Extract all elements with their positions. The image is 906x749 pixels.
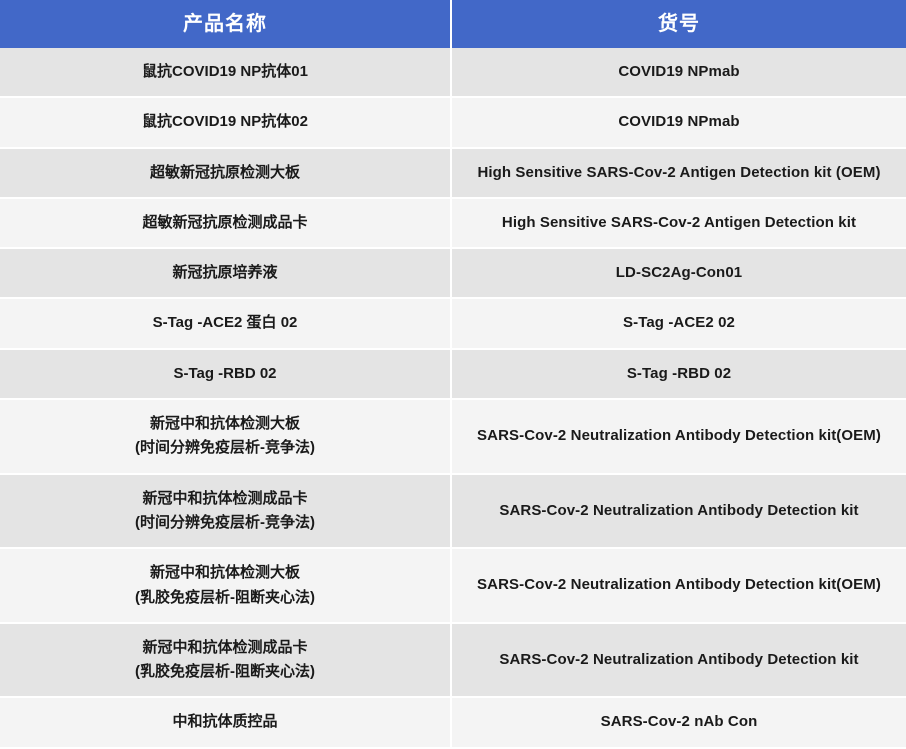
product-name-line-2: (时间分辨免疫层析-竞争法) [10, 511, 440, 535]
table-row[interactable]: S-Tag -ACE2 蛋白 02S-Tag -ACE2 02 [0, 299, 906, 349]
product-name-line-2: (乳胶免疫层析-阻断夹心法) [10, 660, 440, 684]
cell-product-name: S-Tag -RBD 02 [0, 350, 452, 400]
product-name-line-2: (时间分辨免疫层析-竞争法) [10, 436, 440, 460]
product-name-line-1: 鼠抗COVID19 NP抗体02 [10, 110, 440, 134]
product-name-line-1: 新冠中和抗体检测成品卡 [10, 487, 440, 511]
cell-product-name: 新冠抗原培养液 [0, 249, 452, 299]
table-header: 产品名称 货号 [0, 0, 906, 48]
table-row[interactable]: 鼠抗COVID19 NP抗体02COVID19 NPmab [0, 98, 906, 148]
cell-product-name: 新冠中和抗体检测成品卡(乳胶免疫层析-阻断夹心法) [0, 624, 452, 699]
cell-product-code: LD-SC2Ag-Con01 [452, 249, 906, 299]
product-catalog-table: 产品名称 货号 鼠抗COVID19 NP抗体01COVID19 NPmab鼠抗C… [0, 0, 906, 749]
product-name-line-1: 超敏新冠抗原检测大板 [10, 161, 440, 185]
table-row[interactable]: 新冠中和抗体检测成品卡(时间分辨免疫层析-竞争法)SARS-Cov-2 Neut… [0, 475, 906, 550]
table-row[interactable]: 新冠抗原培养液LD-SC2Ag-Con01 [0, 249, 906, 299]
cell-product-name: 超敏新冠抗原检测成品卡 [0, 199, 452, 249]
cell-product-code: SARS-Cov-2 Neutralization Antibody Detec… [452, 624, 906, 699]
product-name-line-1: 鼠抗COVID19 NP抗体01 [10, 60, 440, 84]
table-body: 鼠抗COVID19 NP抗体01COVID19 NPmab鼠抗COVID19 N… [0, 48, 906, 749]
cell-product-code: SARS-Cov-2 Neutralization Antibody Detec… [452, 475, 906, 550]
cell-product-name: 鼠抗COVID19 NP抗体02 [0, 98, 452, 148]
cell-product-name: 超敏新冠抗原检测大板 [0, 149, 452, 199]
product-name-line-1: 新冠中和抗体检测成品卡 [10, 636, 440, 660]
cell-product-name: 新冠中和抗体检测大板(乳胶免疫层析-阻断夹心法) [0, 549, 452, 624]
table-row[interactable]: 超敏新冠抗原检测成品卡High Sensitive SARS-Cov-2 Ant… [0, 199, 906, 249]
table-row[interactable]: S-Tag -RBD 02S-Tag -RBD 02 [0, 350, 906, 400]
column-header-product-name[interactable]: 产品名称 [0, 0, 452, 48]
cell-product-code: S-Tag -RBD 02 [452, 350, 906, 400]
table-row[interactable]: 超敏新冠抗原检测大板High Sensitive SARS-Cov-2 Anti… [0, 149, 906, 199]
product-name-line-1: 新冠中和抗体检测大板 [10, 561, 440, 585]
cell-product-name: 新冠中和抗体检测大板(时间分辨免疫层析-竞争法) [0, 400, 452, 475]
cell-product-name: 鼠抗COVID19 NP抗体01 [0, 48, 452, 98]
table-row[interactable]: 新冠中和抗体检测成品卡(乳胶免疫层析-阻断夹心法)SARS-Cov-2 Neut… [0, 624, 906, 699]
product-name-line-1: S-Tag -ACE2 蛋白 02 [10, 311, 440, 335]
cell-product-code: SARS-Cov-2 Neutralization Antibody Detec… [452, 549, 906, 624]
table-row[interactable]: 鼠抗COVID19 NP抗体01COVID19 NPmab [0, 48, 906, 98]
cell-product-code: COVID19 NPmab [452, 48, 906, 98]
product-name-line-1: 新冠中和抗体检测大板 [10, 412, 440, 436]
table-row[interactable]: 新冠中和抗体检测大板(乳胶免疫层析-阻断夹心法)SARS-Cov-2 Neutr… [0, 549, 906, 624]
table-header-row: 产品名称 货号 [0, 0, 906, 48]
product-name-line-1: 超敏新冠抗原检测成品卡 [10, 211, 440, 235]
cell-product-code: High Sensitive SARS-Cov-2 Antigen Detect… [452, 199, 906, 249]
column-header-product-code[interactable]: 货号 [452, 0, 906, 48]
cell-product-code: SARS-Cov-2 Neutralization Antibody Detec… [452, 400, 906, 475]
product-name-line-1: S-Tag -RBD 02 [10, 362, 440, 386]
table-row[interactable]: 新冠中和抗体检测大板(时间分辨免疫层析-竞争法)SARS-Cov-2 Neutr… [0, 400, 906, 475]
cell-product-name: 新冠中和抗体检测成品卡(时间分辨免疫层析-竞争法) [0, 475, 452, 550]
cell-product-code: S-Tag -ACE2 02 [452, 299, 906, 349]
product-name-line-1: 中和抗体质控品 [10, 710, 440, 734]
cell-product-code: High Sensitive SARS-Cov-2 Antigen Detect… [452, 149, 906, 199]
cell-product-code: COVID19 NPmab [452, 98, 906, 148]
product-name-line-2: (乳胶免疫层析-阻断夹心法) [10, 586, 440, 610]
cell-product-name: S-Tag -ACE2 蛋白 02 [0, 299, 452, 349]
product-name-line-1: 新冠抗原培养液 [10, 261, 440, 285]
